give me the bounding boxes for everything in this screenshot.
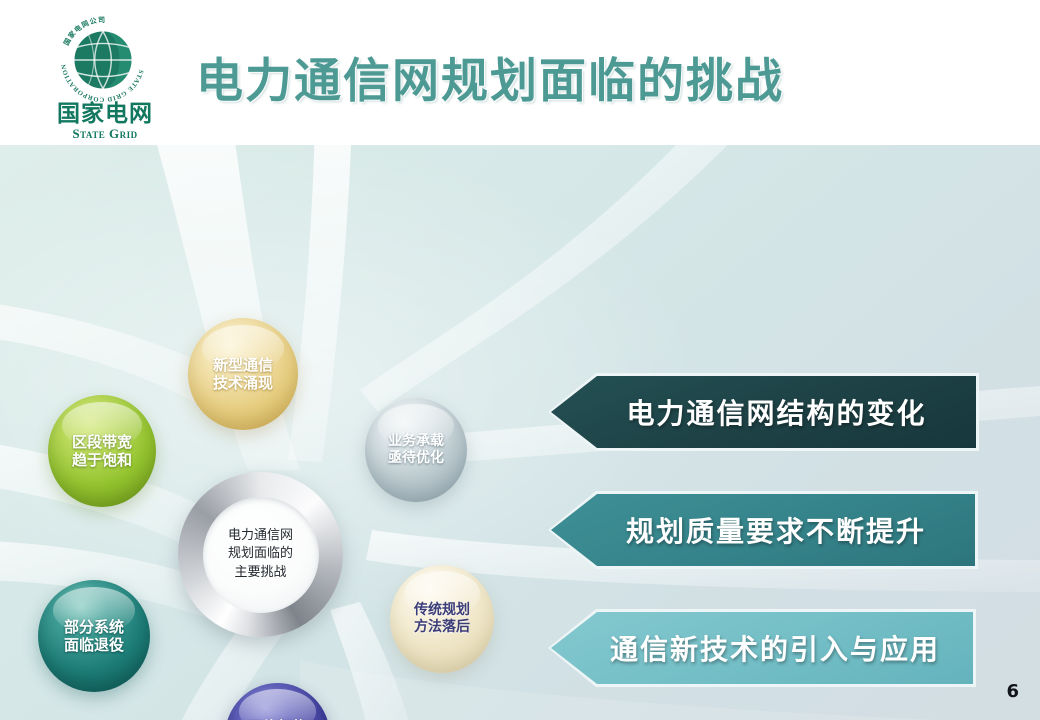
bubble-label: 业务承载 亟待优化	[388, 433, 444, 467]
banner-network-structure-change[interactable]: 电力通信网结构的变化	[548, 373, 979, 451]
bubble-bandwidth-saturation[interactable]: 区段带宽 趋于饱和	[48, 395, 156, 507]
banner-label: 通信新技术的引入与应用	[570, 628, 954, 668]
bubble-service-bearing[interactable]: 业务承载 亟待优化	[365, 398, 467, 502]
banner-planning-quality[interactable]: 规划质量要求不断提升	[548, 491, 978, 569]
slide-header: 国家电网公司 STATE GRID CORPORATION OF CHINA 国…	[0, 0, 1040, 145]
bubble-new-tech-emergence[interactable]: 新型通信 技术涌现	[188, 318, 298, 430]
page-number: 6	[1006, 681, 1019, 702]
slide-body: 新型通信 技术涌现 区段带宽 趋于饱和 业务承载 亟待优化 部分系统 面临退役 …	[0, 140, 1040, 720]
logo-name-en: State Grid	[47, 126, 163, 142]
banner-label: 规划质量要求不断提升	[586, 510, 940, 550]
globe-icon: 国家电网公司 STATE GRID CORPORATION OF CHINA	[57, 14, 149, 106]
bubble-system-retirement[interactable]: 部分系统 面临退役	[38, 580, 150, 692]
banner-fill: 电力通信网结构的变化	[551, 376, 976, 448]
page-title: 电力通信网规划面临的挑战	[196, 42, 784, 111]
bubble-label: 区段带宽 趋于饱和	[72, 433, 132, 470]
bubble-gloss	[239, 689, 317, 720]
logo-name-cn: 国家电网	[47, 102, 163, 126]
banner-fill: 通信新技术的引入与应用	[551, 612, 973, 684]
center-hub-label: 电力通信网 规划面临的 主要挑战	[228, 527, 293, 582]
bubble-label: 部分系统 面临退役	[64, 618, 124, 655]
bubble-legacy-planning-method[interactable]: 传统规划 方法落后	[390, 565, 494, 673]
center-hub[interactable]: 电力通信网 规划面临的 主要挑战	[178, 472, 343, 637]
banner-fill: 规划质量要求不断提升	[551, 494, 975, 566]
banner-new-technology-adoption[interactable]: 通信新技术的引入与应用	[548, 609, 976, 687]
state-grid-logo: 国家电网公司 STATE GRID CORPORATION OF CHINA 国…	[33, 14, 173, 138]
bubble-label: 传统规划 方法落后	[414, 602, 470, 636]
bubble-label: 新型通信 技术涌现	[213, 356, 273, 393]
slide: 新型通信 技术涌现 区段带宽 趋于饱和 业务承载 亟待优化 部分系统 面临退役 …	[0, 0, 1040, 720]
center-hub-inner: 电力通信网 规划面临的 主要挑战	[203, 497, 319, 613]
banner-label: 电力通信网结构的变化	[586, 392, 940, 432]
